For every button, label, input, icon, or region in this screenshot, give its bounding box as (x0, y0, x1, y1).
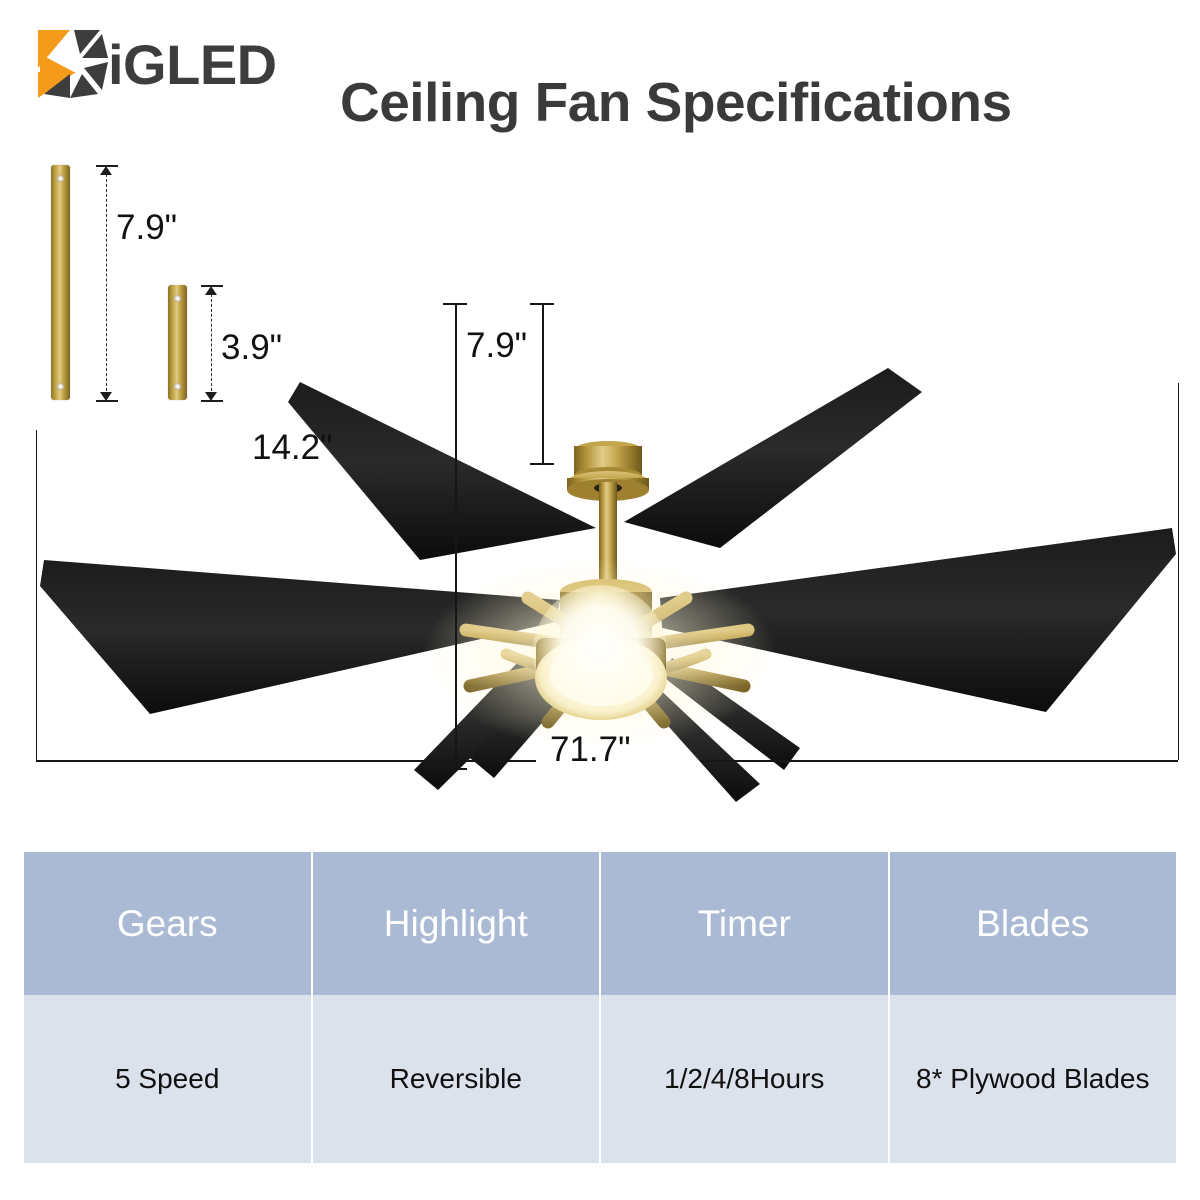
fan-canopy-height-label: 7.9" (466, 326, 527, 366)
fan-upper-dimension-line (455, 303, 457, 463)
width-dimension-line-right (700, 760, 1178, 762)
cell-highlight: Reversible (313, 995, 600, 1163)
specification-table: Gears Highlight Timer Blades 5 Speed Rev… (22, 852, 1178, 1163)
page-header: iGLED Ceiling Fan Specifications (0, 0, 1200, 130)
table-header-row: Gears Highlight Timer Blades (24, 852, 1176, 995)
dimension-tick-bottom (530, 463, 554, 465)
table-header-gears: Gears (24, 852, 311, 995)
page-title: Ceiling Fan Specifications (340, 66, 1012, 138)
digled-aperture-logo-icon (30, 28, 116, 100)
width-dimension-line-left (36, 760, 536, 762)
table-header-highlight: Highlight (313, 852, 600, 995)
fan-total-height-label: 14.2" (252, 428, 333, 468)
table-header-timer: Timer (601, 852, 888, 995)
fan-upper-dimension-line-2 (542, 303, 544, 463)
ceiling-fan-dimension-diagram: 7.9" 3.9" (0, 130, 1200, 830)
table-header-blades: Blades (890, 852, 1177, 995)
width-extension-line-right (1178, 383, 1179, 760)
fan-total-height-dimension-line (455, 463, 457, 768)
dimension-tick-bottom (443, 768, 467, 770)
ceiling-fan-illustration (0, 130, 1200, 830)
fan-blade-span-label: 71.7" (550, 730, 631, 770)
cell-timer: 1/2/4/8Hours (601, 995, 888, 1163)
cell-blades: 8* Plywood Blades (890, 995, 1177, 1163)
logo-wordmark: iGLED (108, 29, 277, 101)
table-row: 5 Speed Reversible 1/2/4/8Hours 8* Plywo… (24, 995, 1176, 1163)
cell-gears: 5 Speed (24, 995, 311, 1163)
width-extension-line-left (36, 430, 37, 760)
